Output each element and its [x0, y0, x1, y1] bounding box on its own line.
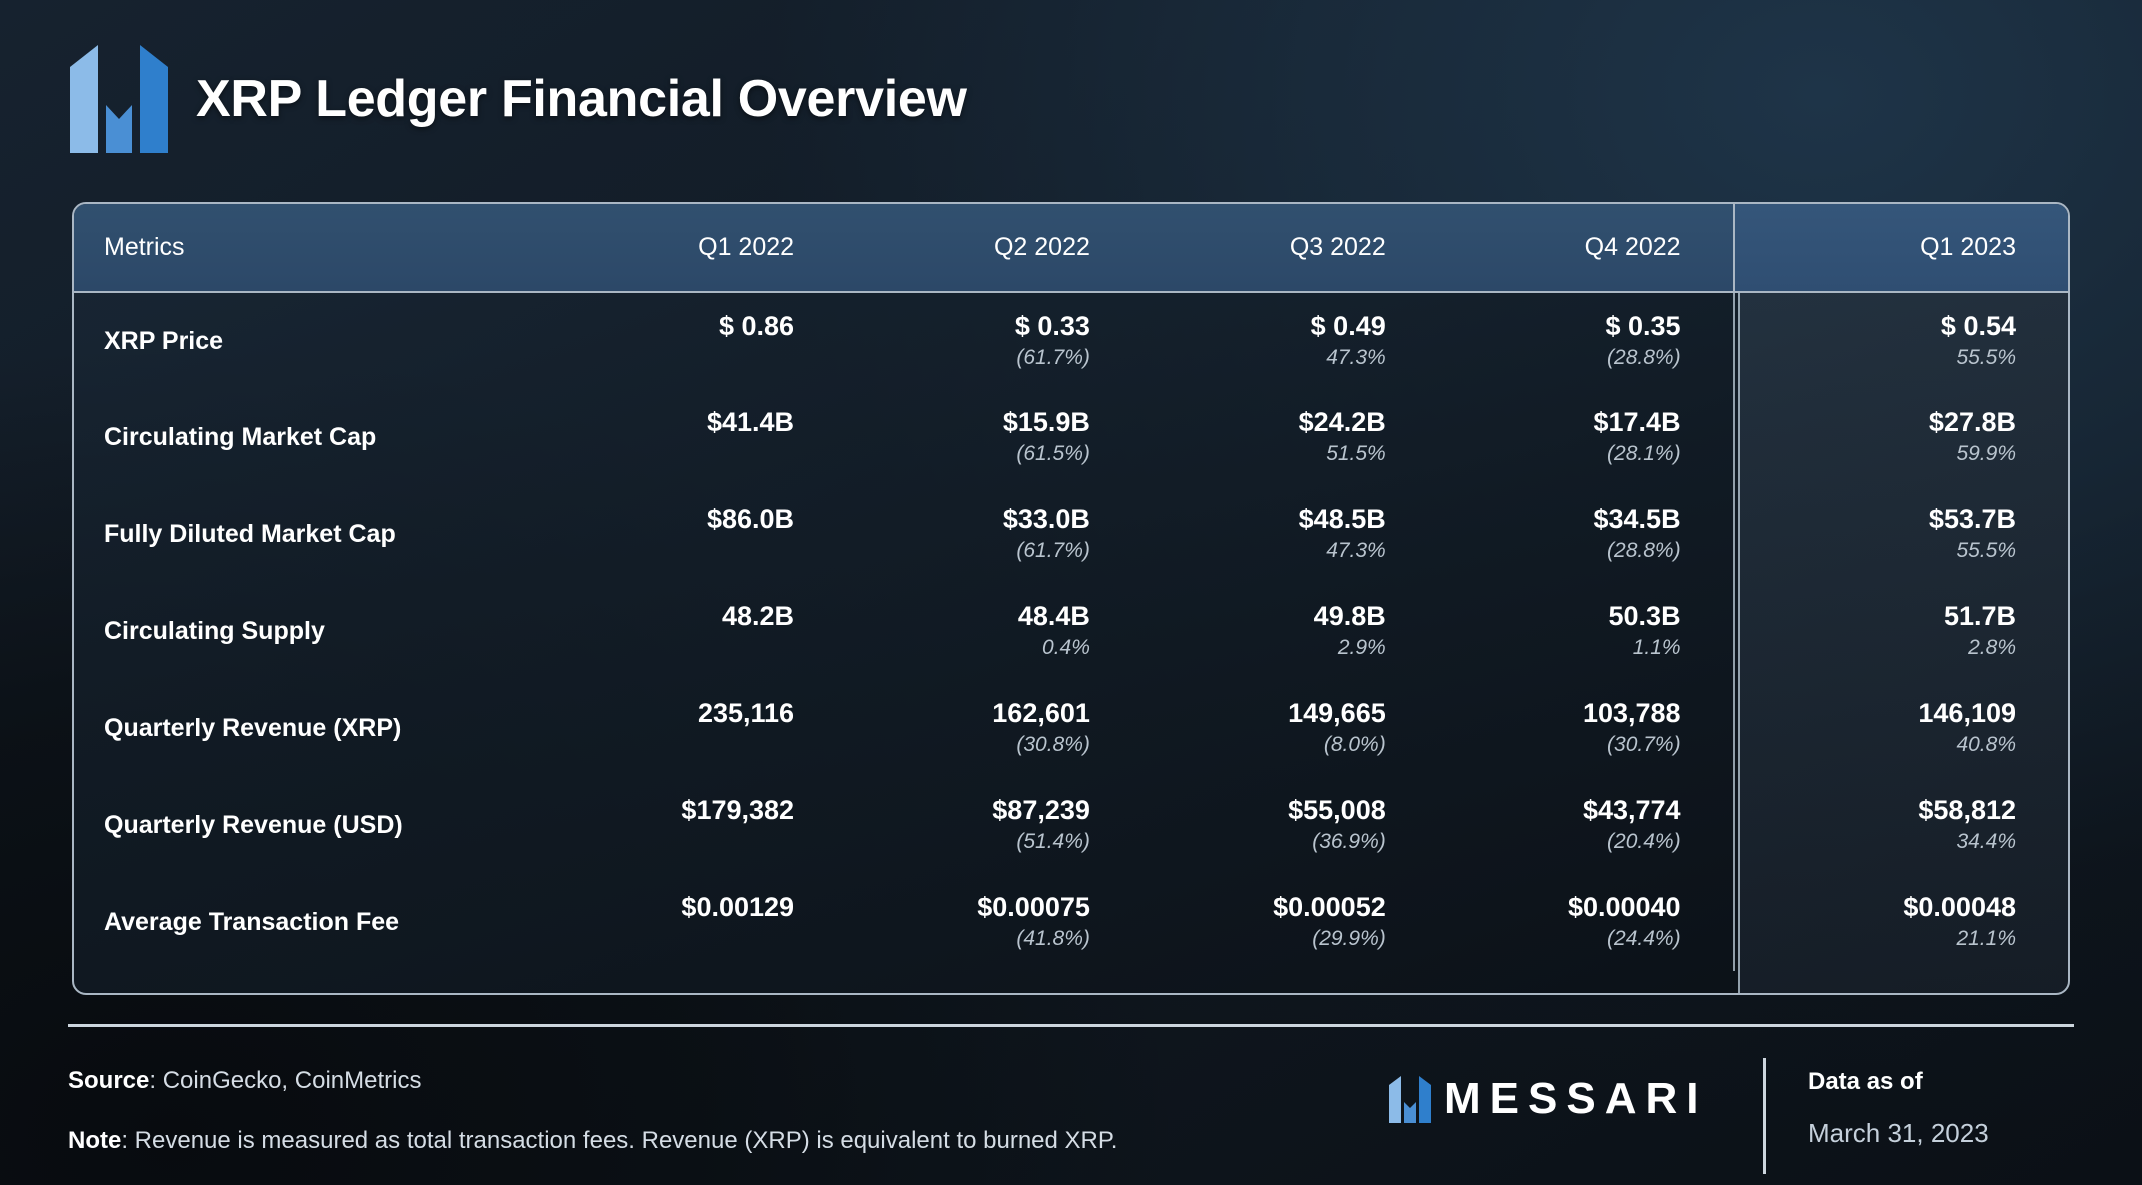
- metric-cell: $179,382: [550, 777, 846, 874]
- metric-value: $55,008: [1142, 796, 1386, 825]
- metric-cell: $ 0.5455.5%: [1734, 292, 2068, 389]
- metric-change: 2.9%: [1142, 635, 1386, 660]
- data-as-of-label: Data as of: [1808, 1068, 1989, 1096]
- metric-change: 55.5%: [1735, 345, 2016, 370]
- metric-value: $87,239: [846, 796, 1090, 825]
- metric-cell: $43,774(20.4%): [1438, 777, 1734, 874]
- metric-cell: 51.7B2.8%: [1734, 583, 2068, 680]
- metric-value: $0.00040: [1438, 893, 1681, 922]
- metric-cell: 48.2B: [550, 583, 846, 680]
- metric-value: $53.7B: [1735, 505, 2016, 534]
- metric-change: (61.7%): [846, 538, 1090, 563]
- metric-cell: 48.4B0.4%: [846, 583, 1142, 680]
- column-header-q3-2022[interactable]: Q3 2022: [1142, 204, 1438, 292]
- infographic-page: XRP Ledger Financial Overview Metrics Q1…: [0, 0, 2142, 1185]
- metric-cell: $ 0.35(28.8%): [1438, 292, 1734, 389]
- metric-value: $ 0.86: [550, 312, 794, 341]
- metric-value: $ 0.54: [1735, 312, 2016, 341]
- metric-value: 149,665: [1142, 699, 1386, 728]
- source-text: : CoinGecko, CoinMetrics: [149, 1067, 421, 1094]
- metric-change: (41.8%): [846, 926, 1090, 951]
- metric-cell: $33.0B(61.7%): [846, 486, 1142, 583]
- metric-change: 2.8%: [1735, 635, 2016, 660]
- metric-cell: $48.5B47.3%: [1142, 486, 1438, 583]
- metric-value: $0.00048: [1735, 893, 2016, 922]
- metric-cell: $86.0B: [550, 486, 846, 583]
- metric-value: 162,601: [846, 699, 1090, 728]
- metric-change: 59.9%: [1735, 441, 2016, 466]
- column-header-q1-2023[interactable]: Q1 2023: [1734, 204, 2068, 292]
- metric-value: $0.00129: [550, 893, 794, 922]
- messari-wordmark: MESSARI: [1444, 1074, 1707, 1124]
- metric-value: $41.4B: [550, 408, 794, 437]
- page-title: XRP Ledger Financial Overview: [196, 69, 967, 129]
- metric-cell: $34.5B(28.8%): [1438, 486, 1734, 583]
- metric-change: 47.3%: [1142, 345, 1386, 370]
- metric-value: 235,116: [550, 699, 794, 728]
- metric-value: 48.4B: [846, 602, 1090, 631]
- metric-change: (51.4%): [846, 829, 1090, 854]
- messari-m-logo-icon: [68, 45, 170, 153]
- metric-cell: 103,788(30.7%): [1438, 680, 1734, 777]
- metric-value: 49.8B: [1142, 602, 1386, 631]
- metric-cell: 162,601(30.8%): [846, 680, 1142, 777]
- metric-change: (24.4%): [1438, 926, 1681, 951]
- footer-divider-rule: [68, 1024, 2074, 1027]
- metric-cell: $24.2B51.5%: [1142, 389, 1438, 486]
- metric-cell: $17.4B(28.1%): [1438, 389, 1734, 486]
- metric-change: (30.8%): [846, 732, 1090, 757]
- table-row: Fully Diluted Market Cap$86.0B $33.0B(61…: [74, 486, 2068, 583]
- table-header: Metrics Q1 2022 Q2 2022 Q3 2022 Q4 2022 …: [74, 204, 2068, 292]
- table-header-row: Metrics Q1 2022 Q2 2022 Q3 2022 Q4 2022 …: [74, 204, 2068, 292]
- metric-value: $15.9B: [846, 408, 1090, 437]
- metric-label: Quarterly Revenue (XRP): [74, 680, 550, 777]
- metric-change: (61.5%): [846, 441, 1090, 466]
- metric-change: 40.8%: [1735, 732, 2016, 757]
- source-line: Source: CoinGecko, CoinMetrics: [68, 1066, 1117, 1096]
- metric-change: 55.5%: [1735, 538, 2016, 563]
- metric-label: XRP Price: [74, 292, 550, 389]
- metric-cell: $0.0004821.1%: [1734, 874, 2068, 971]
- metric-value: $58,812: [1735, 796, 2016, 825]
- metric-value: $ 0.49: [1142, 312, 1386, 341]
- metric-cell: $ 0.86: [550, 292, 846, 389]
- metric-change: 47.3%: [1142, 538, 1386, 563]
- messari-brand: MESSARI: [1388, 1074, 1707, 1124]
- data-as-of-value: March 31, 2023: [1808, 1118, 1989, 1149]
- metric-value: $17.4B: [1438, 408, 1681, 437]
- metric-change: (8.0%): [1142, 732, 1386, 757]
- metric-cell: $ 0.33(61.7%): [846, 292, 1142, 389]
- metric-cell: $41.4B: [550, 389, 846, 486]
- footer-notes: Source: CoinGecko, CoinMetrics Note: Rev…: [68, 1066, 1117, 1156]
- metric-value: $24.2B: [1142, 408, 1386, 437]
- metric-value: $86.0B: [550, 505, 794, 534]
- metric-cell: 50.3B1.1%: [1438, 583, 1734, 680]
- metric-value: $0.00075: [846, 893, 1090, 922]
- metric-change: (28.8%): [1438, 345, 1681, 370]
- metric-change: 0.4%: [846, 635, 1090, 660]
- metric-cell: 235,116: [550, 680, 846, 777]
- metric-change: (20.4%): [1438, 829, 1681, 854]
- metric-cell: $55,008(36.9%): [1142, 777, 1438, 874]
- metric-cell: $0.00040(24.4%): [1438, 874, 1734, 971]
- metric-change: 21.1%: [1735, 926, 2016, 951]
- footer-vertical-divider: [1763, 1058, 1766, 1174]
- metric-label: Average Transaction Fee: [74, 874, 550, 971]
- metric-change: (61.7%): [846, 345, 1090, 370]
- header: XRP Ledger Financial Overview: [68, 45, 967, 153]
- metric-cell: $0.00052(29.9%): [1142, 874, 1438, 971]
- financial-table-card: Metrics Q1 2022 Q2 2022 Q3 2022 Q4 2022 …: [72, 202, 2070, 995]
- table-row: Quarterly Revenue (XRP)235,116 162,601(3…: [74, 680, 2068, 777]
- metric-cell: $87,239(51.4%): [846, 777, 1142, 874]
- metric-change: (28.8%): [1438, 538, 1681, 563]
- metric-value: $48.5B: [1142, 505, 1386, 534]
- metric-cell: $0.00129: [550, 874, 846, 971]
- metric-cell: $58,81234.4%: [1734, 777, 2068, 874]
- metric-change: 1.1%: [1438, 635, 1681, 660]
- metric-value: 146,109: [1735, 699, 2016, 728]
- metric-value: $43,774: [1438, 796, 1681, 825]
- metric-value: $33.0B: [846, 505, 1090, 534]
- note-line: Note: Revenue is measured as total trans…: [68, 1126, 1117, 1156]
- metric-value: $ 0.33: [846, 312, 1090, 341]
- metric-cell: $53.7B55.5%: [1734, 486, 2068, 583]
- metric-change: (30.7%): [1438, 732, 1681, 757]
- financial-table: Metrics Q1 2022 Q2 2022 Q3 2022 Q4 2022 …: [74, 204, 2068, 971]
- table-row: Circulating Supply48.2B 48.4B0.4%49.8B2.…: [74, 583, 2068, 680]
- note-label: Note: [68, 1127, 121, 1154]
- metric-change: (36.9%): [1142, 829, 1386, 854]
- metric-value: $179,382: [550, 796, 794, 825]
- metric-cell: $27.8B59.9%: [1734, 389, 2068, 486]
- metric-value: $34.5B: [1438, 505, 1681, 534]
- column-header-metrics[interactable]: Metrics: [74, 204, 550, 292]
- metric-value: 48.2B: [550, 602, 794, 631]
- data-as-of: Data as of March 31, 2023: [1808, 1068, 1989, 1149]
- metric-change: 51.5%: [1142, 441, 1386, 466]
- metric-cell: $0.00075(41.8%): [846, 874, 1142, 971]
- metric-label: Circulating Market Cap: [74, 389, 550, 486]
- column-header-q2-2022[interactable]: Q2 2022: [846, 204, 1142, 292]
- metric-value: 51.7B: [1735, 602, 2016, 631]
- table-row: Quarterly Revenue (USD)$179,382 $87,239(…: [74, 777, 2068, 874]
- metric-value: 103,788: [1438, 699, 1681, 728]
- table-body: XRP Price$ 0.86 $ 0.33(61.7%)$ 0.4947.3%…: [74, 292, 2068, 971]
- messari-m-logo-icon: [1388, 1076, 1432, 1123]
- footer: Source: CoinGecko, CoinMetrics Note: Rev…: [68, 1052, 2074, 1172]
- metric-change: (28.1%): [1438, 441, 1681, 466]
- metric-label: Circulating Supply: [74, 583, 550, 680]
- metric-cell: 49.8B2.9%: [1142, 583, 1438, 680]
- metric-label: Quarterly Revenue (USD): [74, 777, 550, 874]
- metric-cell: $ 0.4947.3%: [1142, 292, 1438, 389]
- metric-cell: 146,10940.8%: [1734, 680, 2068, 777]
- metric-label: Fully Diluted Market Cap: [74, 486, 550, 583]
- metric-value: $0.00052: [1142, 893, 1386, 922]
- metric-change: (29.9%): [1142, 926, 1386, 951]
- source-label: Source: [68, 1067, 149, 1094]
- table-row: Circulating Market Cap$41.4B $15.9B(61.5…: [74, 389, 2068, 486]
- column-header-q1-2022[interactable]: Q1 2022: [550, 204, 846, 292]
- metric-value: $27.8B: [1735, 408, 2016, 437]
- table-row: Average Transaction Fee$0.00129 $0.00075…: [74, 874, 2068, 971]
- metric-cell: 149,665(8.0%): [1142, 680, 1438, 777]
- table-row: XRP Price$ 0.86 $ 0.33(61.7%)$ 0.4947.3%…: [74, 292, 2068, 389]
- metric-cell: $15.9B(61.5%): [846, 389, 1142, 486]
- metric-change: 34.4%: [1735, 829, 2016, 854]
- metric-value: 50.3B: [1438, 602, 1681, 631]
- metric-value: $ 0.35: [1438, 312, 1681, 341]
- column-header-q4-2022[interactable]: Q4 2022: [1438, 204, 1734, 292]
- note-text: : Revenue is measured as total transacti…: [121, 1127, 1117, 1154]
